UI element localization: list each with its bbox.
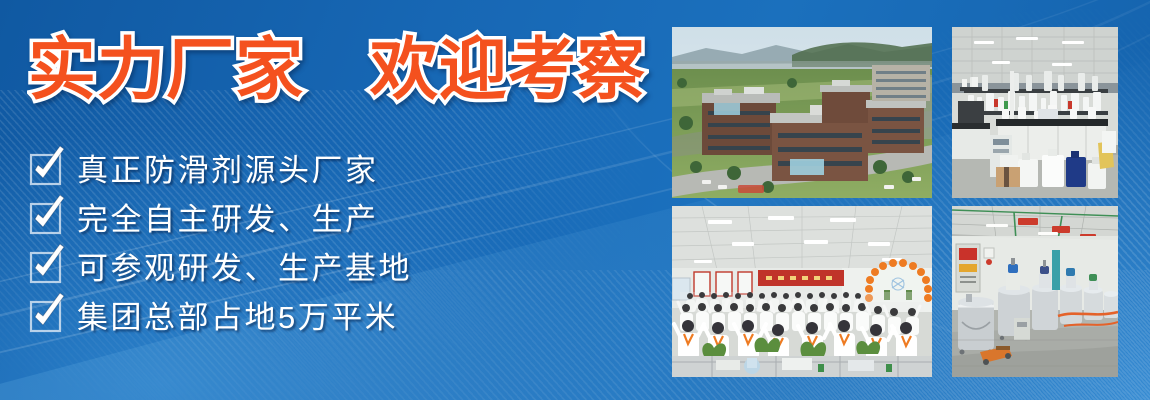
list-item-label: 完全自主研发、生产 [77, 194, 379, 239]
photo-research-laboratory [952, 27, 1118, 198]
headline-part-1: 实力厂家 [28, 32, 304, 108]
photo-company-campus-aerial [672, 27, 932, 198]
photo-office-staff-group [672, 206, 932, 377]
list-item: 可参观研发、生产基地 [30, 241, 412, 289]
list-item: 真正防滑剂源头厂家 [30, 143, 412, 191]
list-item: 完全自主研发、生产 [30, 192, 412, 240]
list-item-label: 集团总部占地5万平米 [77, 292, 398, 337]
checkbox-checked-icon [30, 250, 61, 281]
list-item-label: 真正防滑剂源头厂家 [77, 145, 379, 190]
list-item: 集团总部占地5万平米 [30, 290, 412, 338]
promo-banner: 实力厂家 欢迎考察 真正防滑剂源头厂家 完全自主研发、生产 [0, 0, 1150, 400]
banner-headline: 实力厂家 欢迎考察 [28, 36, 646, 104]
photo-grid [672, 27, 1118, 377]
checkbox-checked-icon [30, 201, 61, 232]
checkbox-checked-icon [30, 299, 61, 330]
checkbox-checked-icon [30, 152, 61, 183]
list-item-label: 可参观研发、生产基地 [77, 243, 412, 288]
headline-part-2: 欢迎考察 [370, 32, 646, 108]
photo-production-workshop [952, 206, 1118, 377]
feature-bullet-list: 真正防滑剂源头厂家 完全自主研发、生产 可参观研发、生产基地 [30, 143, 412, 339]
